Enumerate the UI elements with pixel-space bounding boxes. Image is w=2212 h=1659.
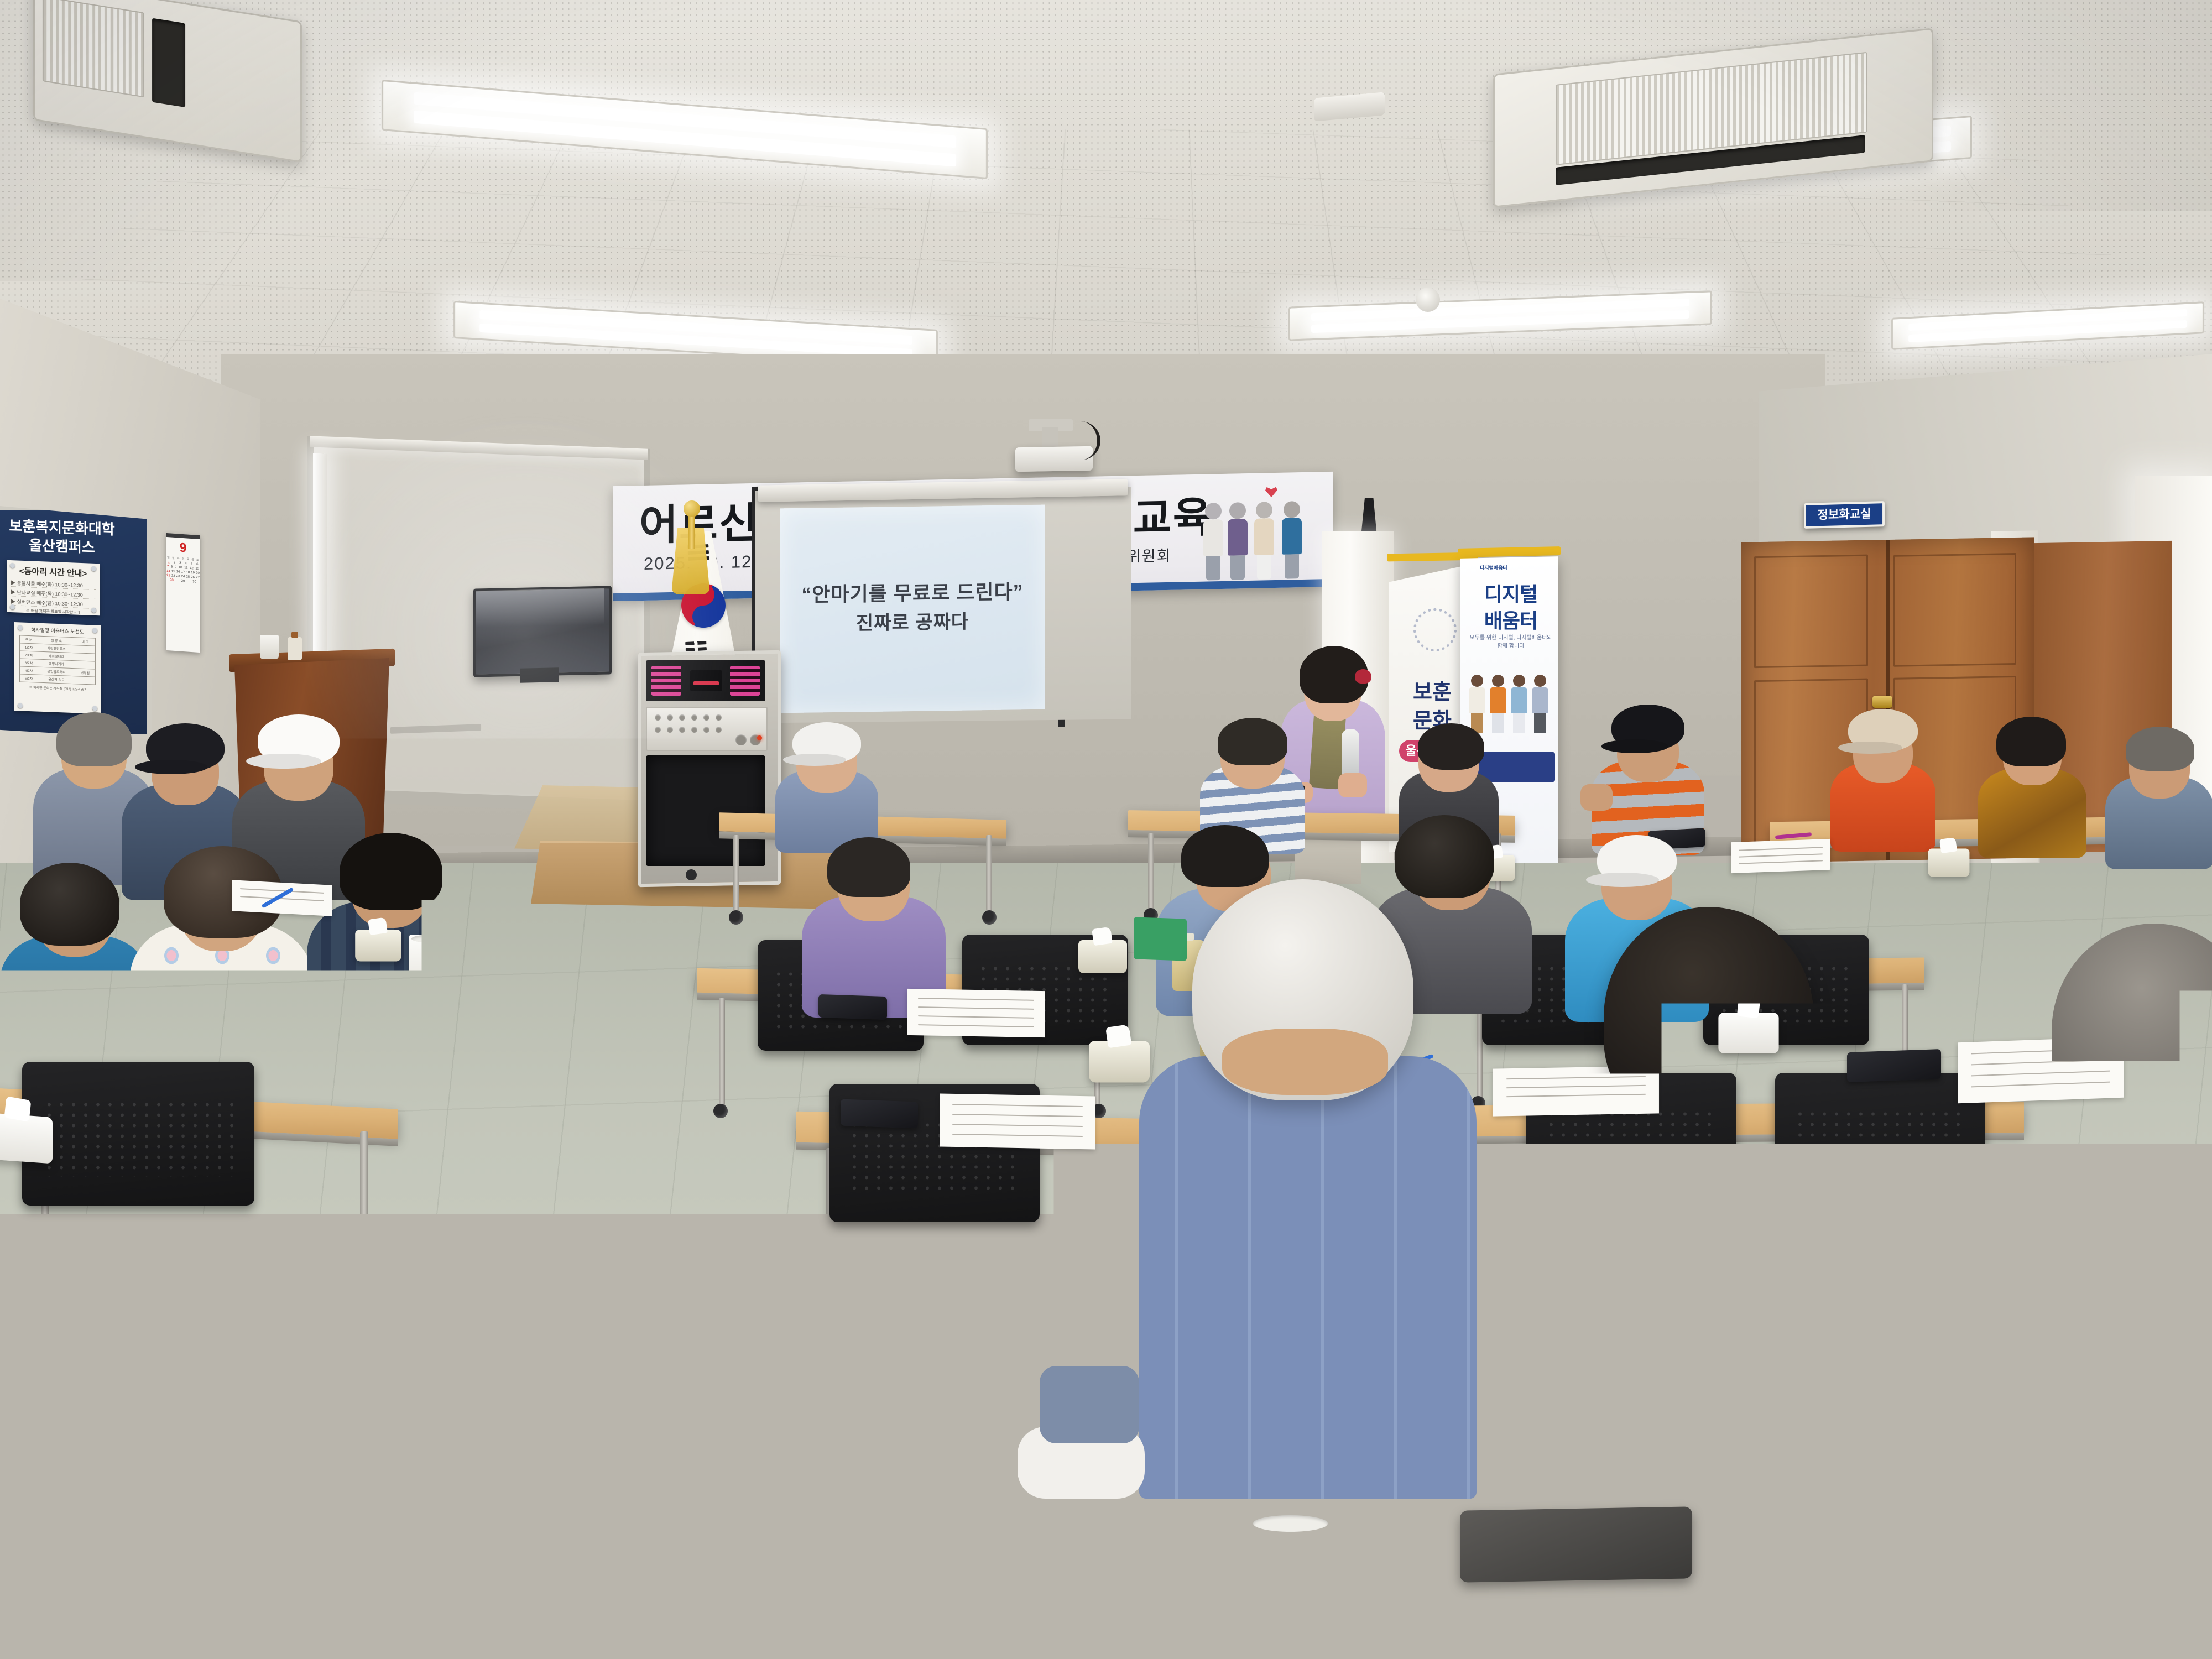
flag-pole-finial — [684, 500, 700, 517]
banner-illustration-seniors — [1203, 483, 1325, 580]
desk-legs — [66, 1524, 376, 1659]
plaid-shirt — [1139, 1056, 1477, 1499]
projected-slide: “안마기를 무료로 드린다” 진짜로 공짜다 — [780, 505, 1045, 713]
wall-calendar: 9 일월 화수 목금 토 123456 78910111213 14151617… — [166, 533, 200, 653]
schedule-table: 구 분 정 류 소 비 고 1호차시청앞정류소 2호차태화로터리 3호차병영사거… — [19, 635, 95, 685]
smartphone[interactable] — [818, 994, 887, 1020]
podium-paper-cup — [260, 635, 279, 659]
handout-paper — [940, 1094, 1095, 1150]
neck — [1222, 1029, 1388, 1095]
projector-mount-arm — [1042, 427, 1058, 449]
paper-cup — [409, 935, 457, 988]
calendar-month: 9 — [166, 539, 200, 556]
presenter-laptop[interactable]: “안마기를 무료로 드린다” — [396, 674, 477, 731]
tissue-box — [355, 930, 401, 962]
monitor-glare — [476, 588, 604, 628]
presenter-hand — [1338, 773, 1367, 797]
av-table — [385, 727, 639, 796]
chair[interactable] — [22, 1062, 254, 1206]
roll-banner-right-logo: 디지털배움터 — [1480, 564, 1507, 571]
attendee-left-dark-hair — [0, 863, 149, 1062]
notice-title: <동아리 시간 안내> — [7, 565, 100, 580]
roll-banner-left-line1: 보훈 — [1394, 675, 1471, 705]
schedule-footer: ※ 자세한 문의는 사무실 (052) 123-4567 — [14, 684, 101, 692]
chair[interactable] — [0, 1255, 221, 1410]
bus-route-schedule-sheet: 학사일정 이용버스 노선도 구 분 정 류 소 비 고 1호차시청앞정류소 2호… — [14, 622, 101, 714]
attendee-foreground-patterned — [1521, 863, 1864, 1460]
smoke-detector — [1416, 288, 1440, 312]
rack-display — [690, 670, 722, 691]
attendee-foreground-white-hair — [1084, 846, 1471, 1499]
slide-line-2: 진짜로 공짜다 — [780, 606, 1045, 637]
slide-line-1: “안마기를 무료로 드린다” — [780, 576, 1045, 608]
attendee-back-orange-stripe — [1593, 701, 1703, 845]
schedule-header: 비 고 — [75, 638, 95, 646]
attendee-left-floral-tee: SWEET LOVE — [133, 846, 310, 1078]
hair-accessory — [1355, 669, 1371, 684]
rack-caster — [686, 869, 697, 880]
cup-brand-text: The Cafe — [1255, 1563, 1307, 1588]
roll-banner-right-line2: 배움터 — [1467, 605, 1555, 634]
attendee-back-far-right — [2107, 719, 2212, 857]
handout-paper — [907, 989, 1045, 1037]
schedule-title: 학사일정 이용버스 노선도 — [14, 625, 101, 636]
bulletin-board-title-line2: 울산캠퍼스 — [1, 533, 123, 558]
club-schedule-notice: <동아리 시간 안내> ▶ 풍물사물 매주(화) 10:30~12:30 ▶ 난… — [7, 560, 100, 615]
attendee-mid-purple-shirt — [802, 830, 946, 1006]
leather-pouch — [1460, 1506, 1692, 1582]
roll-banner-emblem-icon — [1413, 608, 1457, 651]
tissue-box-white — [0, 1113, 53, 1164]
audio-mixer[interactable] — [646, 707, 768, 751]
hand-on-chin — [2024, 1123, 2179, 1217]
roll-banner-right-line1: 디지털 — [1467, 578, 1555, 607]
smartphone[interactable] — [841, 1099, 918, 1129]
grey-hair — [2052, 924, 2212, 1139]
tissue-box — [1928, 849, 1970, 877]
handout-paper — [232, 880, 332, 916]
monitor-stand — [520, 667, 559, 682]
schedule-header: 구 분 — [20, 635, 38, 644]
patterned-blouse — [1554, 1095, 1864, 1482]
podium-bottle — [288, 637, 302, 660]
trouser-leg — [1040, 1366, 1139, 1443]
attendee-foreground-right — [1969, 885, 2212, 1449]
paper-cup-foreground: The Cafe — [1249, 1515, 1332, 1618]
flag-pole — [688, 513, 695, 549]
attendee-back-gold-jacket — [1980, 708, 2085, 846]
handout-paper-foreground — [2076, 1521, 2212, 1631]
attendee-back-beige-cap — [1830, 705, 1936, 843]
attendee-back-cap-white — [774, 717, 879, 838]
classroom-photo-scene: 보훈복지문화대학 울산캠퍼스 <동아리 시간 안내> ▶ 풍물사물 매주(화) … — [0, 0, 2212, 1659]
smartphone[interactable] — [155, 993, 227, 1023]
room-sign: 정보화교실 — [1804, 501, 1885, 529]
dark-curly-hair — [1604, 907, 1814, 1128]
roll-banner-right-subtitle: 모두를 위한 디지털, 디지털배움터와 함께 합니다 — [1467, 634, 1555, 650]
room-sign-label: 정보화교실 — [1806, 503, 1882, 526]
laptop-screen-text: “안마기를 무료로 드린다” — [403, 684, 469, 694]
